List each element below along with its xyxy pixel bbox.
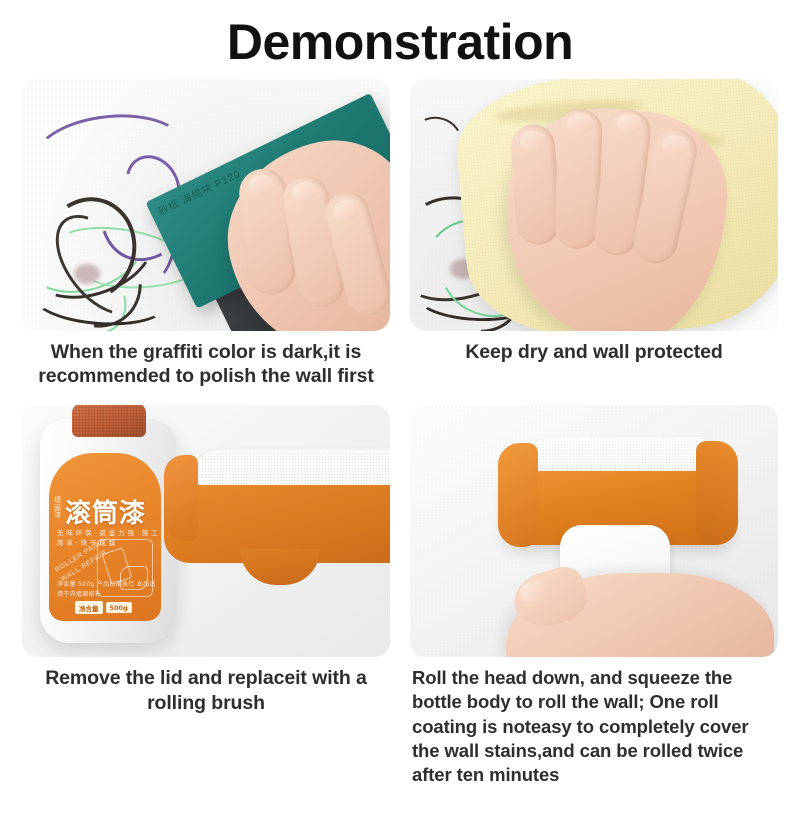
- roller-end-cap-left: [498, 443, 538, 547]
- roller-end-cap: [164, 455, 198, 541]
- bottle-cap: [72, 405, 146, 437]
- bottle-label: 墙面漆 滚筒漆 无 味 环 保 · 遮 盖 力 强 · 施 工 简 单 · 快 …: [49, 453, 161, 621]
- fingernail: [331, 196, 361, 222]
- panel-roll-caption: Roll the head down, and squeeze the bott…: [410, 666, 778, 786]
- fingernail: [519, 129, 546, 151]
- paint-bottle: 墙面漆 滚筒漆 无 味 环 保 · 遮 盖 力 强 · 施 工 简 单 · 快 …: [40, 419, 176, 643]
- badge-net-content: 净含量: [75, 601, 103, 614]
- roller-stem: [240, 549, 320, 585]
- fingernail: [290, 179, 319, 203]
- badge-weight: 500g: [106, 602, 132, 613]
- label-product-name: 滚筒漆: [65, 493, 146, 530]
- panel-bottle: 墙面漆 滚筒漆 无 味 环 保 · 遮 盖 力 强 · 施 工 简 单 · 快 …: [22, 405, 390, 786]
- demonstration-page: Demonstration: [0, 16, 800, 816]
- panel-sanding-caption: When the graffiti color is dark,it is re…: [22, 340, 390, 390]
- panel-bottle-caption: Remove the lid and replaceit with a roll…: [22, 666, 390, 716]
- roller-head: [164, 449, 390, 599]
- page-title: Demonstration: [0, 16, 800, 69]
- panel-wipe-caption: Keep dry and wall protected: [463, 340, 724, 365]
- fingernail: [567, 112, 594, 133]
- fingernail: [247, 173, 275, 196]
- panel-wipe: Keep dry and wall protected: [410, 79, 778, 390]
- fingernail: [615, 112, 643, 135]
- scribble-smudge: [74, 264, 100, 284]
- panel-bottle-photo: 墙面漆 滚筒漆 无 味 环 保 · 遮 盖 力 强 · 施 工 简 单 · 快 …: [22, 405, 390, 657]
- fingernail: [661, 132, 691, 157]
- panel-grid-bottom: 墙面漆 滚筒漆 无 味 环 保 · 遮 盖 力 强 · 施 工 简 单 · 快 …: [0, 405, 800, 786]
- panel-grid: DELIVOATED 砂纸 海绵块 P120 When the graffiti…: [0, 79, 800, 390]
- panel-wipe-photo: [410, 79, 778, 331]
- panel-sanding-photo: DELIVOATED 砂纸 海绵块 P120: [22, 79, 390, 331]
- roller-end-cap-right: [696, 441, 738, 545]
- panel-roll: Roll the head down, and squeeze the bott…: [410, 405, 778, 786]
- label-footer-text: 净含量 500g 产品标准执行 本品适用于内墙面修补: [57, 580, 161, 599]
- panel-sanding: DELIVOATED 砂纸 海绵块 P120 When the graffiti…: [22, 79, 390, 390]
- label-weight-badge: 净含量 500g: [75, 601, 132, 614]
- panel-roll-photo: [410, 405, 778, 657]
